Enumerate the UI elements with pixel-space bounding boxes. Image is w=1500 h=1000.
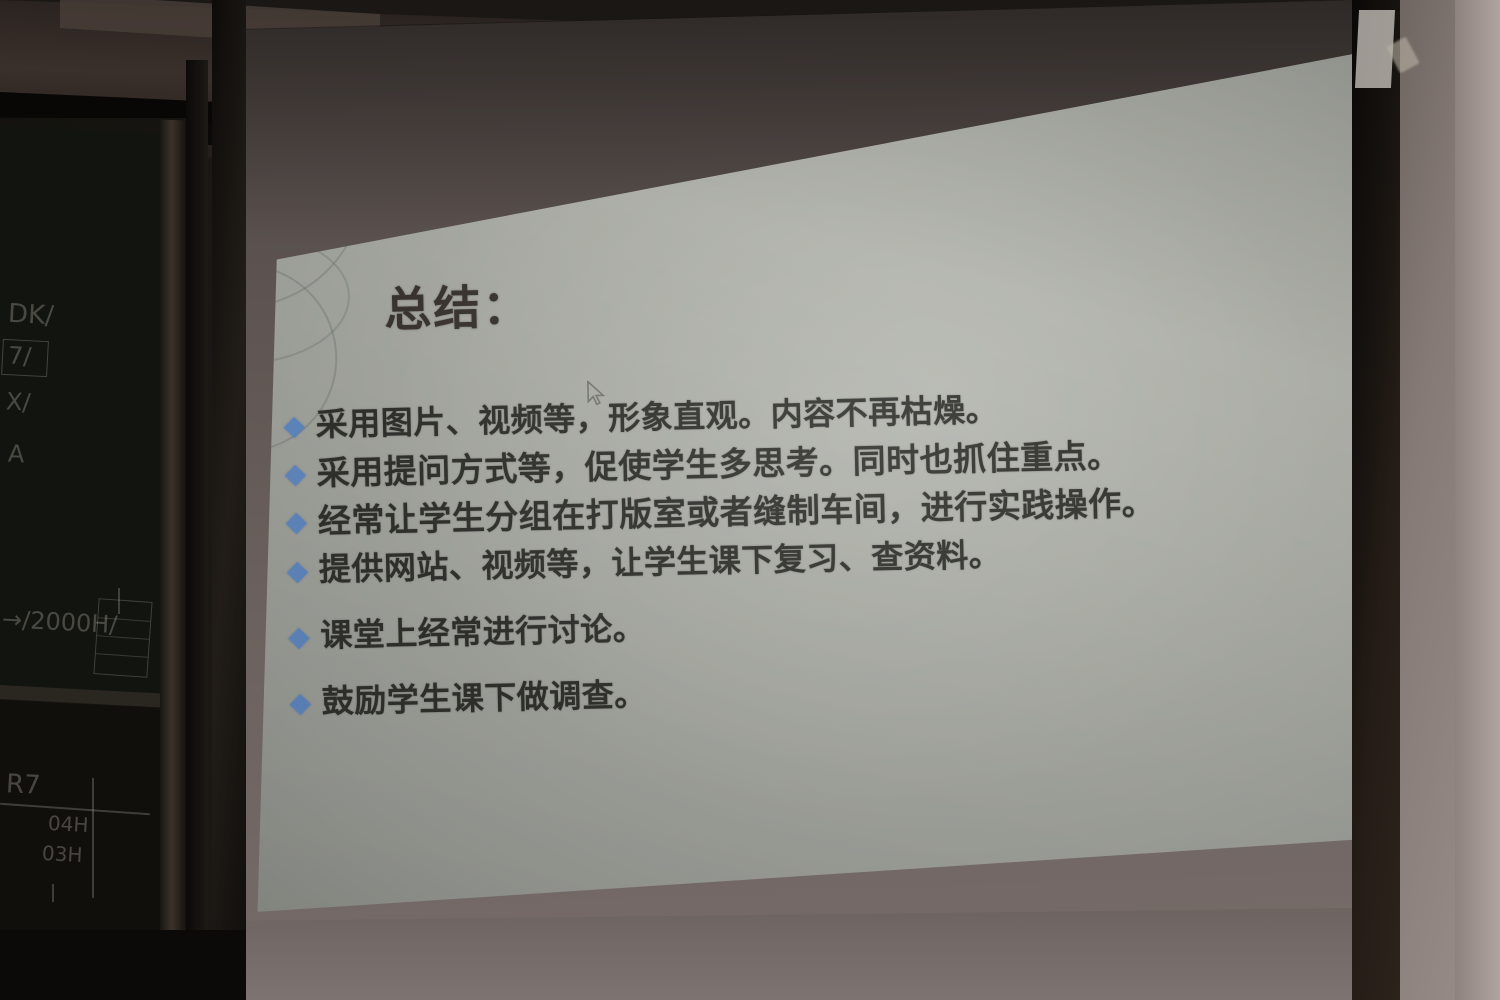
right-wall-far xyxy=(1455,0,1500,1000)
blackboard-frame-edge-inner xyxy=(186,60,208,1000)
wall-post xyxy=(212,0,246,1000)
slide-bullet-item: 课堂上经常进行讨论。 xyxy=(291,593,1332,657)
slide-bullet-text: 提供网站、视频等，让学生课下复习、查资料。 xyxy=(318,535,1001,591)
slide-bullet-text: 采用图片、视频等，形象直观。内容不再枯燥。 xyxy=(315,390,998,446)
slide-bullet-text: 鼓励学生课下做调查。 xyxy=(321,674,647,723)
slide-bullet-list: 采用图片、视频等，形象直观。内容不再枯燥。 采用提问方式等，促使学生多思考。同时… xyxy=(286,383,1333,730)
door-frame xyxy=(1352,0,1400,1000)
classroom-photo-scene: DK/ 7/ X/ A →/2000H/ R7 04H 03H 总结： xyxy=(0,0,1500,1000)
chalk-stray-stroke xyxy=(52,884,54,902)
chalk-table-grid xyxy=(93,598,152,678)
slide-bullet-item: 鼓励学生课下做调查。 xyxy=(292,659,1333,723)
floor-shadow xyxy=(0,930,250,1000)
diamond-bullet-icon xyxy=(288,628,309,649)
blackboard-frame-edge xyxy=(160,120,186,1000)
diamond-bullet-icon xyxy=(286,513,307,534)
diamond-bullet-icon xyxy=(284,417,305,438)
screen-lower-apron xyxy=(246,908,1358,1000)
chalk-vertical-tick xyxy=(118,588,120,614)
diamond-bullet-icon xyxy=(290,693,311,714)
diamond-bullet-icon xyxy=(287,562,308,583)
chalk-box-frame xyxy=(1,339,49,377)
chalk-column-rule xyxy=(92,778,94,898)
slide-title: 总结： xyxy=(383,268,531,340)
slide-bullet-text: 课堂上经常进行讨论。 xyxy=(320,608,646,657)
diamond-bullet-icon xyxy=(285,465,306,486)
